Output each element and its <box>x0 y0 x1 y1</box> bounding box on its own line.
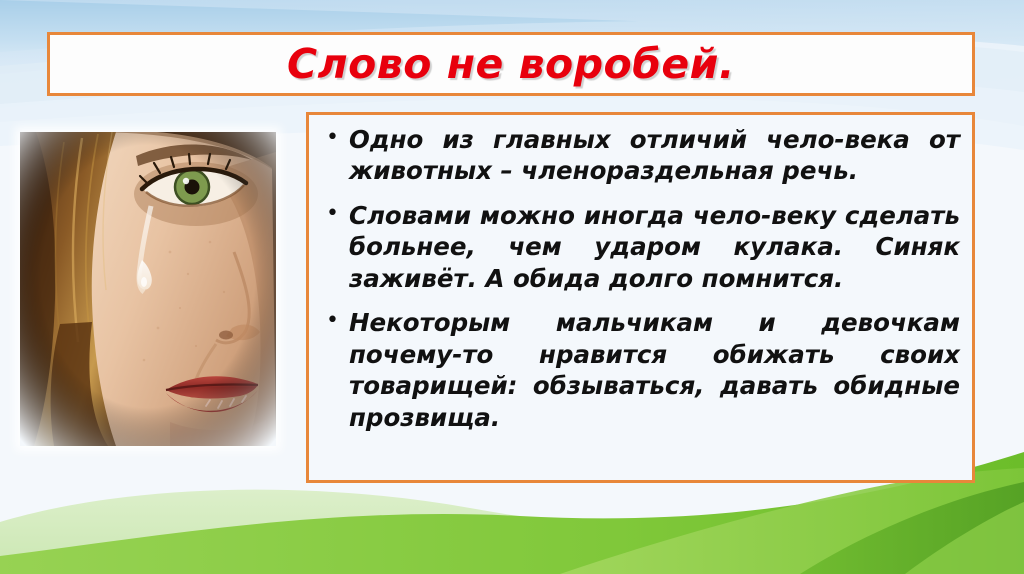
list-item: • Одно из главных отличий чело-века от ж… <box>319 124 960 187</box>
slide-canvas: Слово не воробей. • Одно из главных отли… <box>0 0 1024 574</box>
list-item: • Словами можно иногда чело-веку сделать… <box>319 200 960 294</box>
list-item-text: Одно из главных отличий чело-века от жив… <box>349 124 960 187</box>
bullet-icon: • <box>326 200 339 228</box>
bullet-list: • Одно из главных отличий чело-века от ж… <box>319 124 960 433</box>
list-item-text: Некоторым мальчикам и девочкам почему-то… <box>349 307 960 433</box>
bullet-icon: • <box>326 307 339 335</box>
list-item: • Некоторым мальчикам и девочкам почему-… <box>319 307 960 433</box>
list-item-text: Словами можно иногда чело-веку сделать б… <box>349 200 960 294</box>
crying-woman-photo <box>20 132 276 446</box>
bullet-icon: • <box>326 124 339 152</box>
content-box: • Одно из главных отличий чело-века от ж… <box>306 112 975 483</box>
page-title: Слово не воробей. <box>287 44 735 85</box>
photo-illustration <box>20 132 276 446</box>
title-box: Слово не воробей. <box>47 32 975 96</box>
